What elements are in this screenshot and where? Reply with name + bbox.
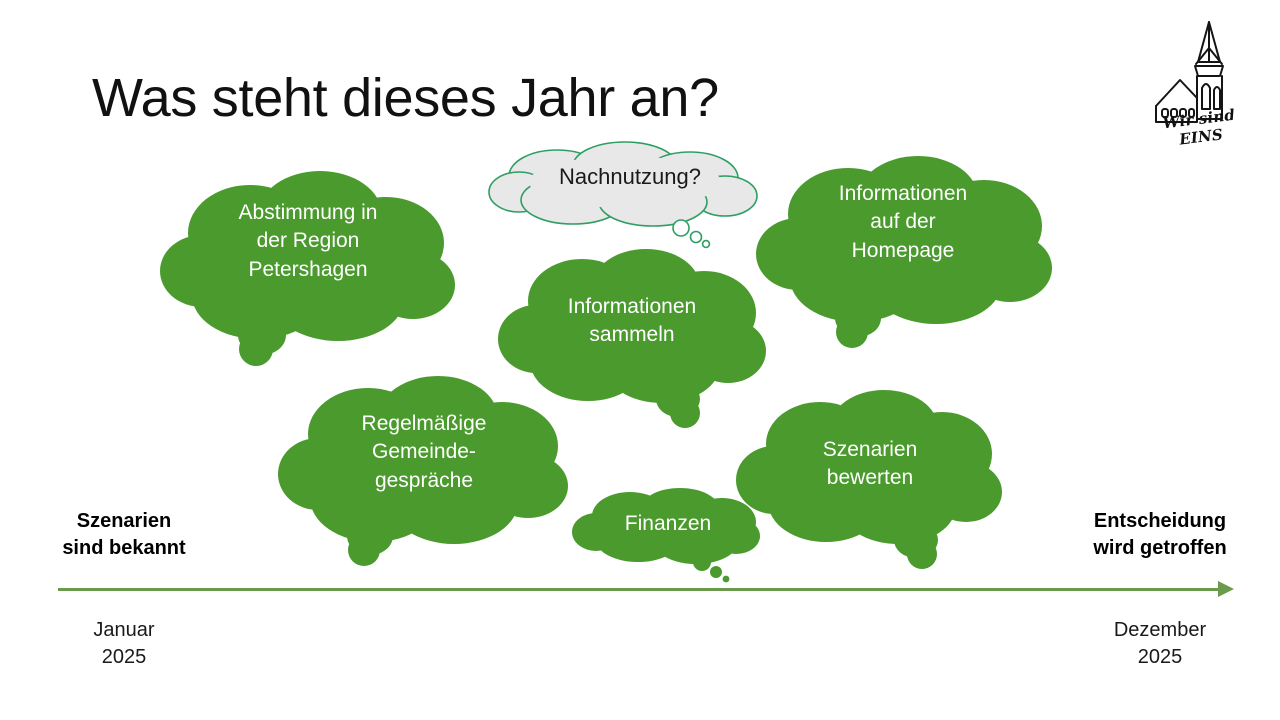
timeline-end-caption-line2: wird getroffen	[1052, 535, 1268, 562]
bubble-informationen-homepage[interactable]: Informationen auf der Homepage	[752, 152, 1054, 360]
timeline-start-caption-line1: Szenarien	[12, 508, 236, 535]
slide-canvas: Was steht dieses Jahr an?	[0, 0, 1280, 720]
bubble-nachnutzung[interactable]: Nachnutzung?	[485, 140, 775, 255]
timeline-axis	[58, 588, 1224, 591]
bubbles-layer: Abstimmung in der Region Petershagen	[0, 0, 1280, 720]
timeline-start-date-line1: Januar	[12, 617, 236, 644]
timeline-start-caption: Szenarien sind bekannt	[12, 508, 236, 562]
timeline-start-caption-line2: sind bekannt	[12, 535, 236, 562]
timeline-end-caption-line1: Entscheidung	[1052, 508, 1268, 535]
timeline-end-caption: Entscheidung wird getroffen	[1052, 508, 1268, 562]
timeline-arrowhead-icon	[1218, 581, 1234, 597]
timeline-start-date: Januar 2025	[12, 617, 236, 671]
timeline-end-date-line1: Dezember	[1052, 617, 1268, 644]
timeline-end-date-line2: 2025	[1052, 644, 1268, 671]
timeline-end-date: Dezember 2025	[1052, 617, 1268, 671]
bubble-regelmaessige-gemeindegespraeche[interactable]: Regelmäßige Gemeinde- gespräche	[274, 372, 574, 580]
bubble-szenarien-bewerten[interactable]: Szenarien bewerten	[736, 386, 1004, 578]
timeline-start-date-line2: 2025	[12, 644, 236, 671]
bubble-abstimmung[interactable]: Abstimmung in der Region Petershagen	[158, 163, 458, 373]
